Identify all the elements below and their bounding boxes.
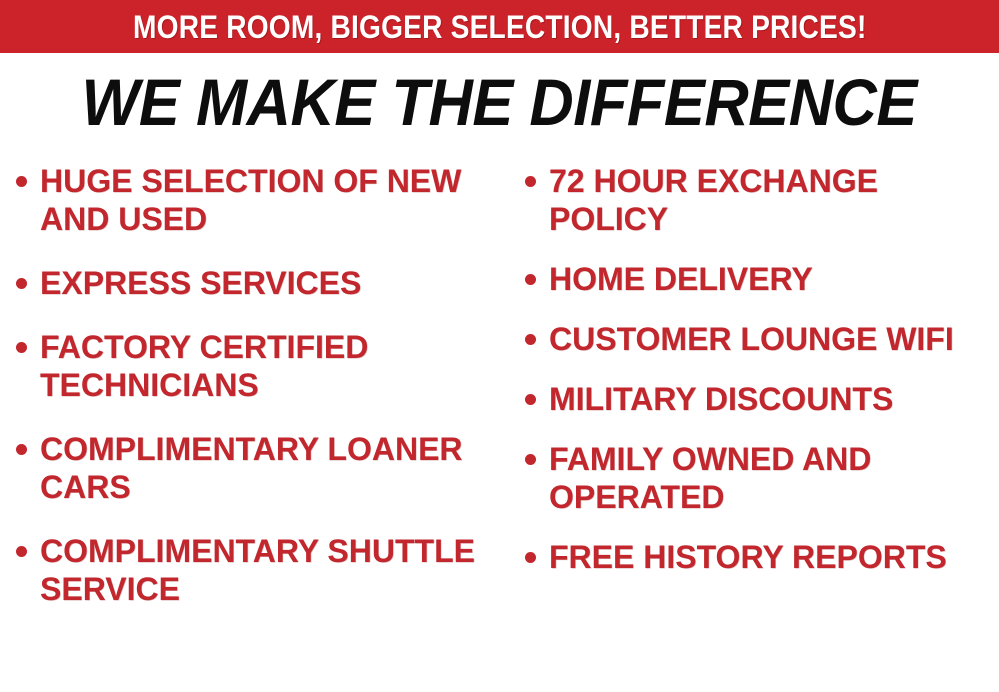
bullet-dot-icon: [16, 444, 27, 455]
list-item-label: MILITARY DISCOUNTS: [549, 380, 999, 418]
bullet-dot-icon: [525, 454, 536, 465]
list-item: FREE HISTORY REPORTS: [525, 538, 999, 576]
list-item: MILITARY DISCOUNTS: [525, 380, 999, 418]
list-item: FACTORY CERTIFIED TECHNICIANS: [16, 328, 505, 404]
bullet-dot-icon: [16, 342, 27, 353]
bullet-dot-icon: [525, 176, 536, 187]
benefits-column-right: 72 HOUR EXCHANGE POLICY HOME DELIVERY CU…: [505, 158, 999, 598]
list-item: HOME DELIVERY: [525, 260, 999, 298]
list-item: 72 HOUR EXCHANGE POLICY: [525, 162, 999, 238]
page-title: WE MAKE THE DIFFERENCE: [0, 68, 999, 136]
bullet-dot-icon: [525, 552, 536, 563]
page-title-text: WE MAKE THE DIFFERENCE: [82, 68, 917, 136]
list-item-label: FREE HISTORY REPORTS: [549, 538, 999, 576]
bullet-dot-icon: [525, 334, 536, 345]
list-item-label: CUSTOMER LOUNGE WIFI: [549, 320, 999, 358]
list-item: CUSTOMER LOUNGE WIFI: [525, 320, 999, 358]
banner-headline: MORE ROOM, BIGGER SELECTION, BETTER PRIC…: [133, 10, 867, 44]
list-item-label: 72 HOUR EXCHANGE POLICY: [549, 162, 999, 238]
list-item-label: HUGE SELECTION OF NEW AND USED: [40, 162, 505, 238]
list-item: COMPLIMENTARY LOANER CARS: [16, 430, 505, 506]
list-item: COMPLIMENTARY SHUTTLE SERVICE: [16, 532, 505, 608]
list-item-label: HOME DELIVERY: [549, 260, 999, 298]
list-item-label: EXPRESS SERVICES: [40, 264, 505, 302]
benefits-columns: HUGE SELECTION OF NEW AND USED EXPRESS S…: [0, 158, 999, 692]
top-banner: MORE ROOM, BIGGER SELECTION, BETTER PRIC…: [0, 0, 999, 53]
list-item: EXPRESS SERVICES: [16, 264, 505, 302]
list-item-label: COMPLIMENTARY SHUTTLE SERVICE: [40, 532, 505, 608]
promo-poster: MORE ROOM, BIGGER SELECTION, BETTER PRIC…: [0, 0, 999, 692]
list-item-label: FACTORY CERTIFIED TECHNICIANS: [40, 328, 505, 404]
bullet-dot-icon: [16, 546, 27, 557]
list-item: HUGE SELECTION OF NEW AND USED: [16, 162, 505, 238]
bullet-dot-icon: [525, 274, 536, 285]
list-item-label: COMPLIMENTARY LOANER CARS: [40, 430, 505, 506]
benefits-column-left: HUGE SELECTION OF NEW AND USED EXPRESS S…: [0, 158, 505, 634]
bullet-dot-icon: [16, 176, 27, 187]
bullet-dot-icon: [525, 394, 536, 405]
list-item: FAMILY OWNED AND OPERATED: [525, 440, 999, 516]
bullet-dot-icon: [16, 278, 27, 289]
list-item-label: FAMILY OWNED AND OPERATED: [549, 440, 999, 516]
